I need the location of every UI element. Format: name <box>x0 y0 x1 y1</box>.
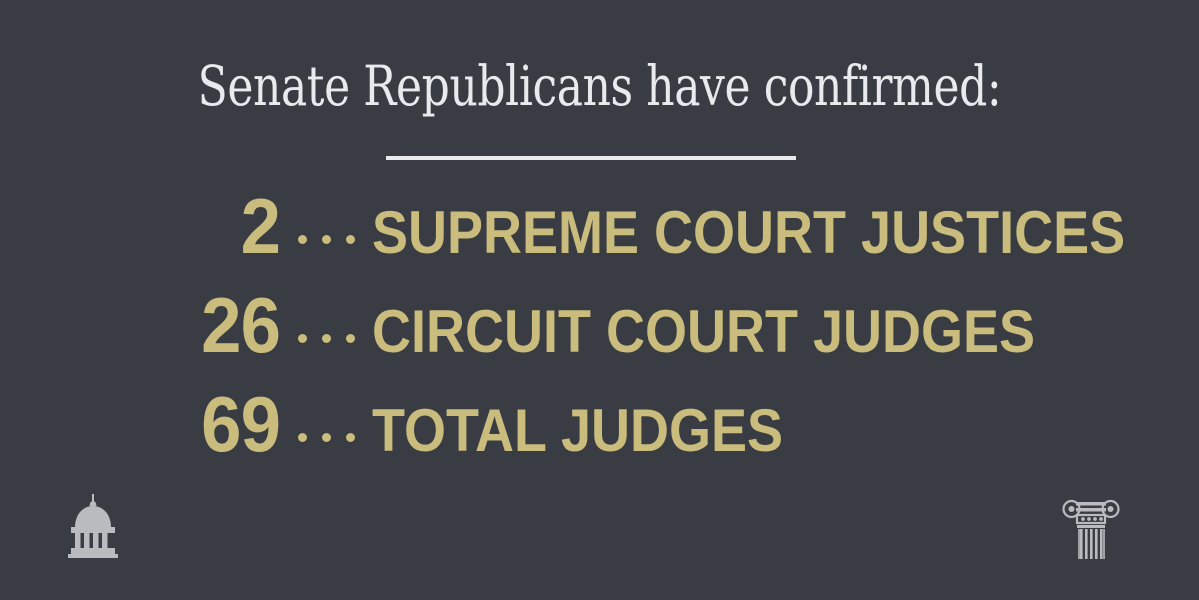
stat-number: 2 <box>20 186 280 266</box>
stat-dots <box>280 433 372 442</box>
stats-list: 2 SUPREME COURT JUSTICES 26 CIRCUIT COUR… <box>0 186 1199 483</box>
infographic-poster: Senate Republicans have confirmed: 2 SUP… <box>0 0 1199 600</box>
dot-icon <box>298 433 307 442</box>
ionic-column-icon <box>1060 494 1122 562</box>
stat-number: 26 <box>20 285 280 365</box>
stat-row: 26 CIRCUIT COURT JUDGES <box>0 285 1199 384</box>
stat-row: 2 SUPREME COURT JUSTICES <box>0 186 1199 285</box>
stat-label: SUPREME COURT JUSTICES <box>372 202 1125 264</box>
title-divider <box>386 156 796 160</box>
page-title: Senate Republicans have confirmed: <box>120 58 1079 116</box>
dot-icon <box>322 334 331 343</box>
stat-label: CIRCUIT COURT JUDGES <box>372 301 1035 363</box>
stat-number: 69 <box>20 384 280 464</box>
dot-icon <box>346 334 355 343</box>
dot-icon <box>322 235 331 244</box>
dot-icon <box>298 334 307 343</box>
stat-label: TOTAL JUDGES <box>372 400 783 462</box>
dot-icon <box>298 235 307 244</box>
stat-dots <box>280 334 372 343</box>
capitol-dome-icon <box>66 494 120 558</box>
stat-row: 69 TOTAL JUDGES <box>0 384 1199 483</box>
stat-dots <box>280 235 372 244</box>
dot-icon <box>346 433 355 442</box>
dot-icon <box>346 235 355 244</box>
dot-icon <box>322 433 331 442</box>
